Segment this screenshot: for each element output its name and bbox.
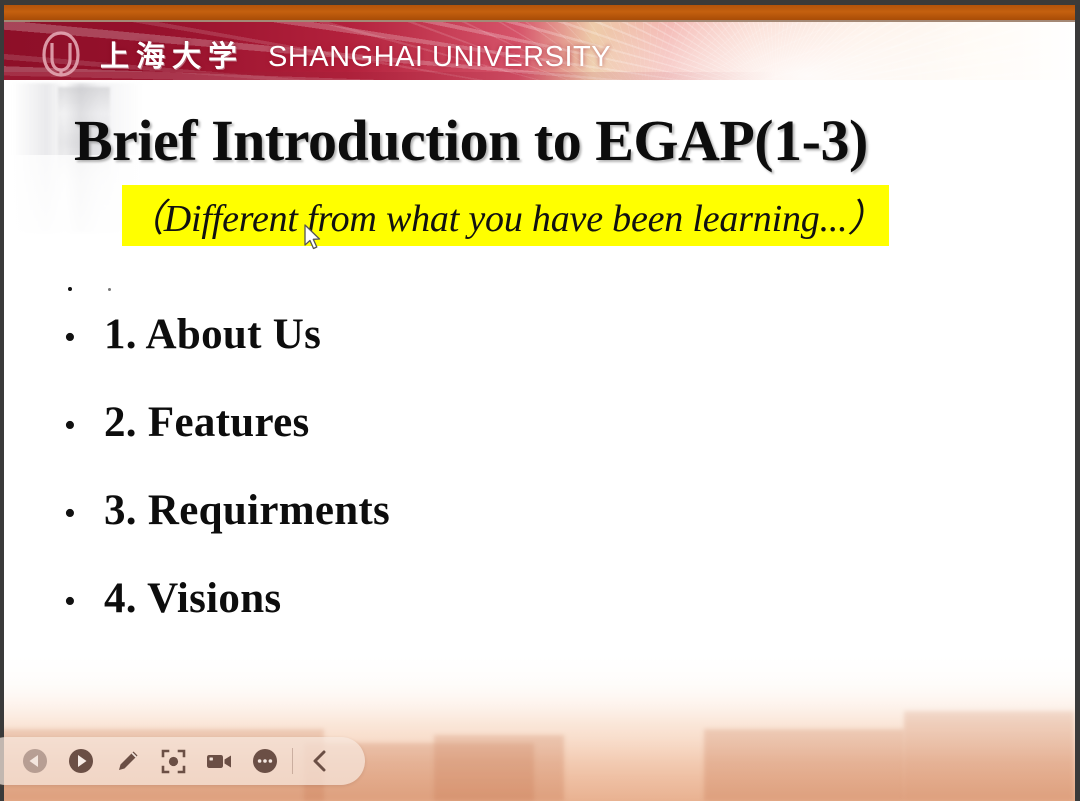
list-item: • 4. Visions (64, 574, 964, 662)
agenda-bullet-list: • 1. About Us • 2. Features • 3. Requirm… (64, 310, 964, 662)
slide-subtitle-wrapper: （Different from what you have been learn… (122, 185, 889, 246)
bullet-marker-icon: • (64, 585, 104, 619)
pencil-icon (114, 748, 141, 775)
slide-title: Brief Introduction to EGAP(1-3) (74, 107, 1054, 174)
screenshot-button[interactable] (150, 738, 196, 784)
bullet-marker-icon: • (64, 321, 104, 355)
ellipsis-circle-icon (252, 748, 278, 774)
chevron-left-icon (309, 749, 331, 773)
bullet-marker-icon: • (64, 409, 104, 443)
list-item: • 2. Features (64, 398, 964, 486)
university-name-chinese: 上海大学 (100, 33, 244, 75)
university-name-english: SHANGHAI UNIVERSITY (268, 41, 611, 74)
slide-subtitle-highlighted: （Different from what you have been learn… (122, 185, 889, 246)
bullet-label: 1. About Us (104, 310, 321, 359)
video-camera-icon (205, 750, 233, 772)
focus-frame-icon (160, 748, 187, 775)
pen-button[interactable] (104, 738, 150, 784)
list-item: • 3. Requirments (64, 486, 964, 574)
collapse-button[interactable] (297, 738, 343, 784)
toolbar-divider (292, 748, 293, 774)
circle-play-left-icon (22, 748, 48, 774)
orange-accent-bar (4, 5, 1075, 20)
bullet-label: 2. Features (104, 398, 310, 447)
circle-play-right-icon (68, 748, 94, 774)
shanghai-university-emblem-icon (34, 29, 88, 79)
bullet-marker-icon: • (64, 497, 104, 531)
play-button[interactable] (58, 738, 104, 784)
player-toolbar[interactable] (0, 737, 365, 785)
record-button[interactable] (196, 738, 242, 784)
bullet-label: 4. Visions (104, 574, 281, 623)
empty-bullet-row (68, 287, 111, 291)
bullet-label: 3. Requirments (104, 486, 390, 535)
list-item: • 1. About Us (64, 310, 964, 398)
previous-slide-button[interactable] (12, 738, 58, 784)
micro-bullet-dot (68, 287, 72, 291)
presentation-slide: 上海大学 SHANGHAI UNIVERSITY Brief Introduct… (4, 5, 1075, 801)
banner-title-group: 上海大学 SHANGHAI UNIVERSITY (100, 33, 611, 75)
more-button[interactable] (242, 738, 288, 784)
micro-bullet-dot-secondary (108, 288, 111, 291)
screenshot-root: 上海大学 SHANGHAI UNIVERSITY Brief Introduct… (0, 0, 1080, 801)
